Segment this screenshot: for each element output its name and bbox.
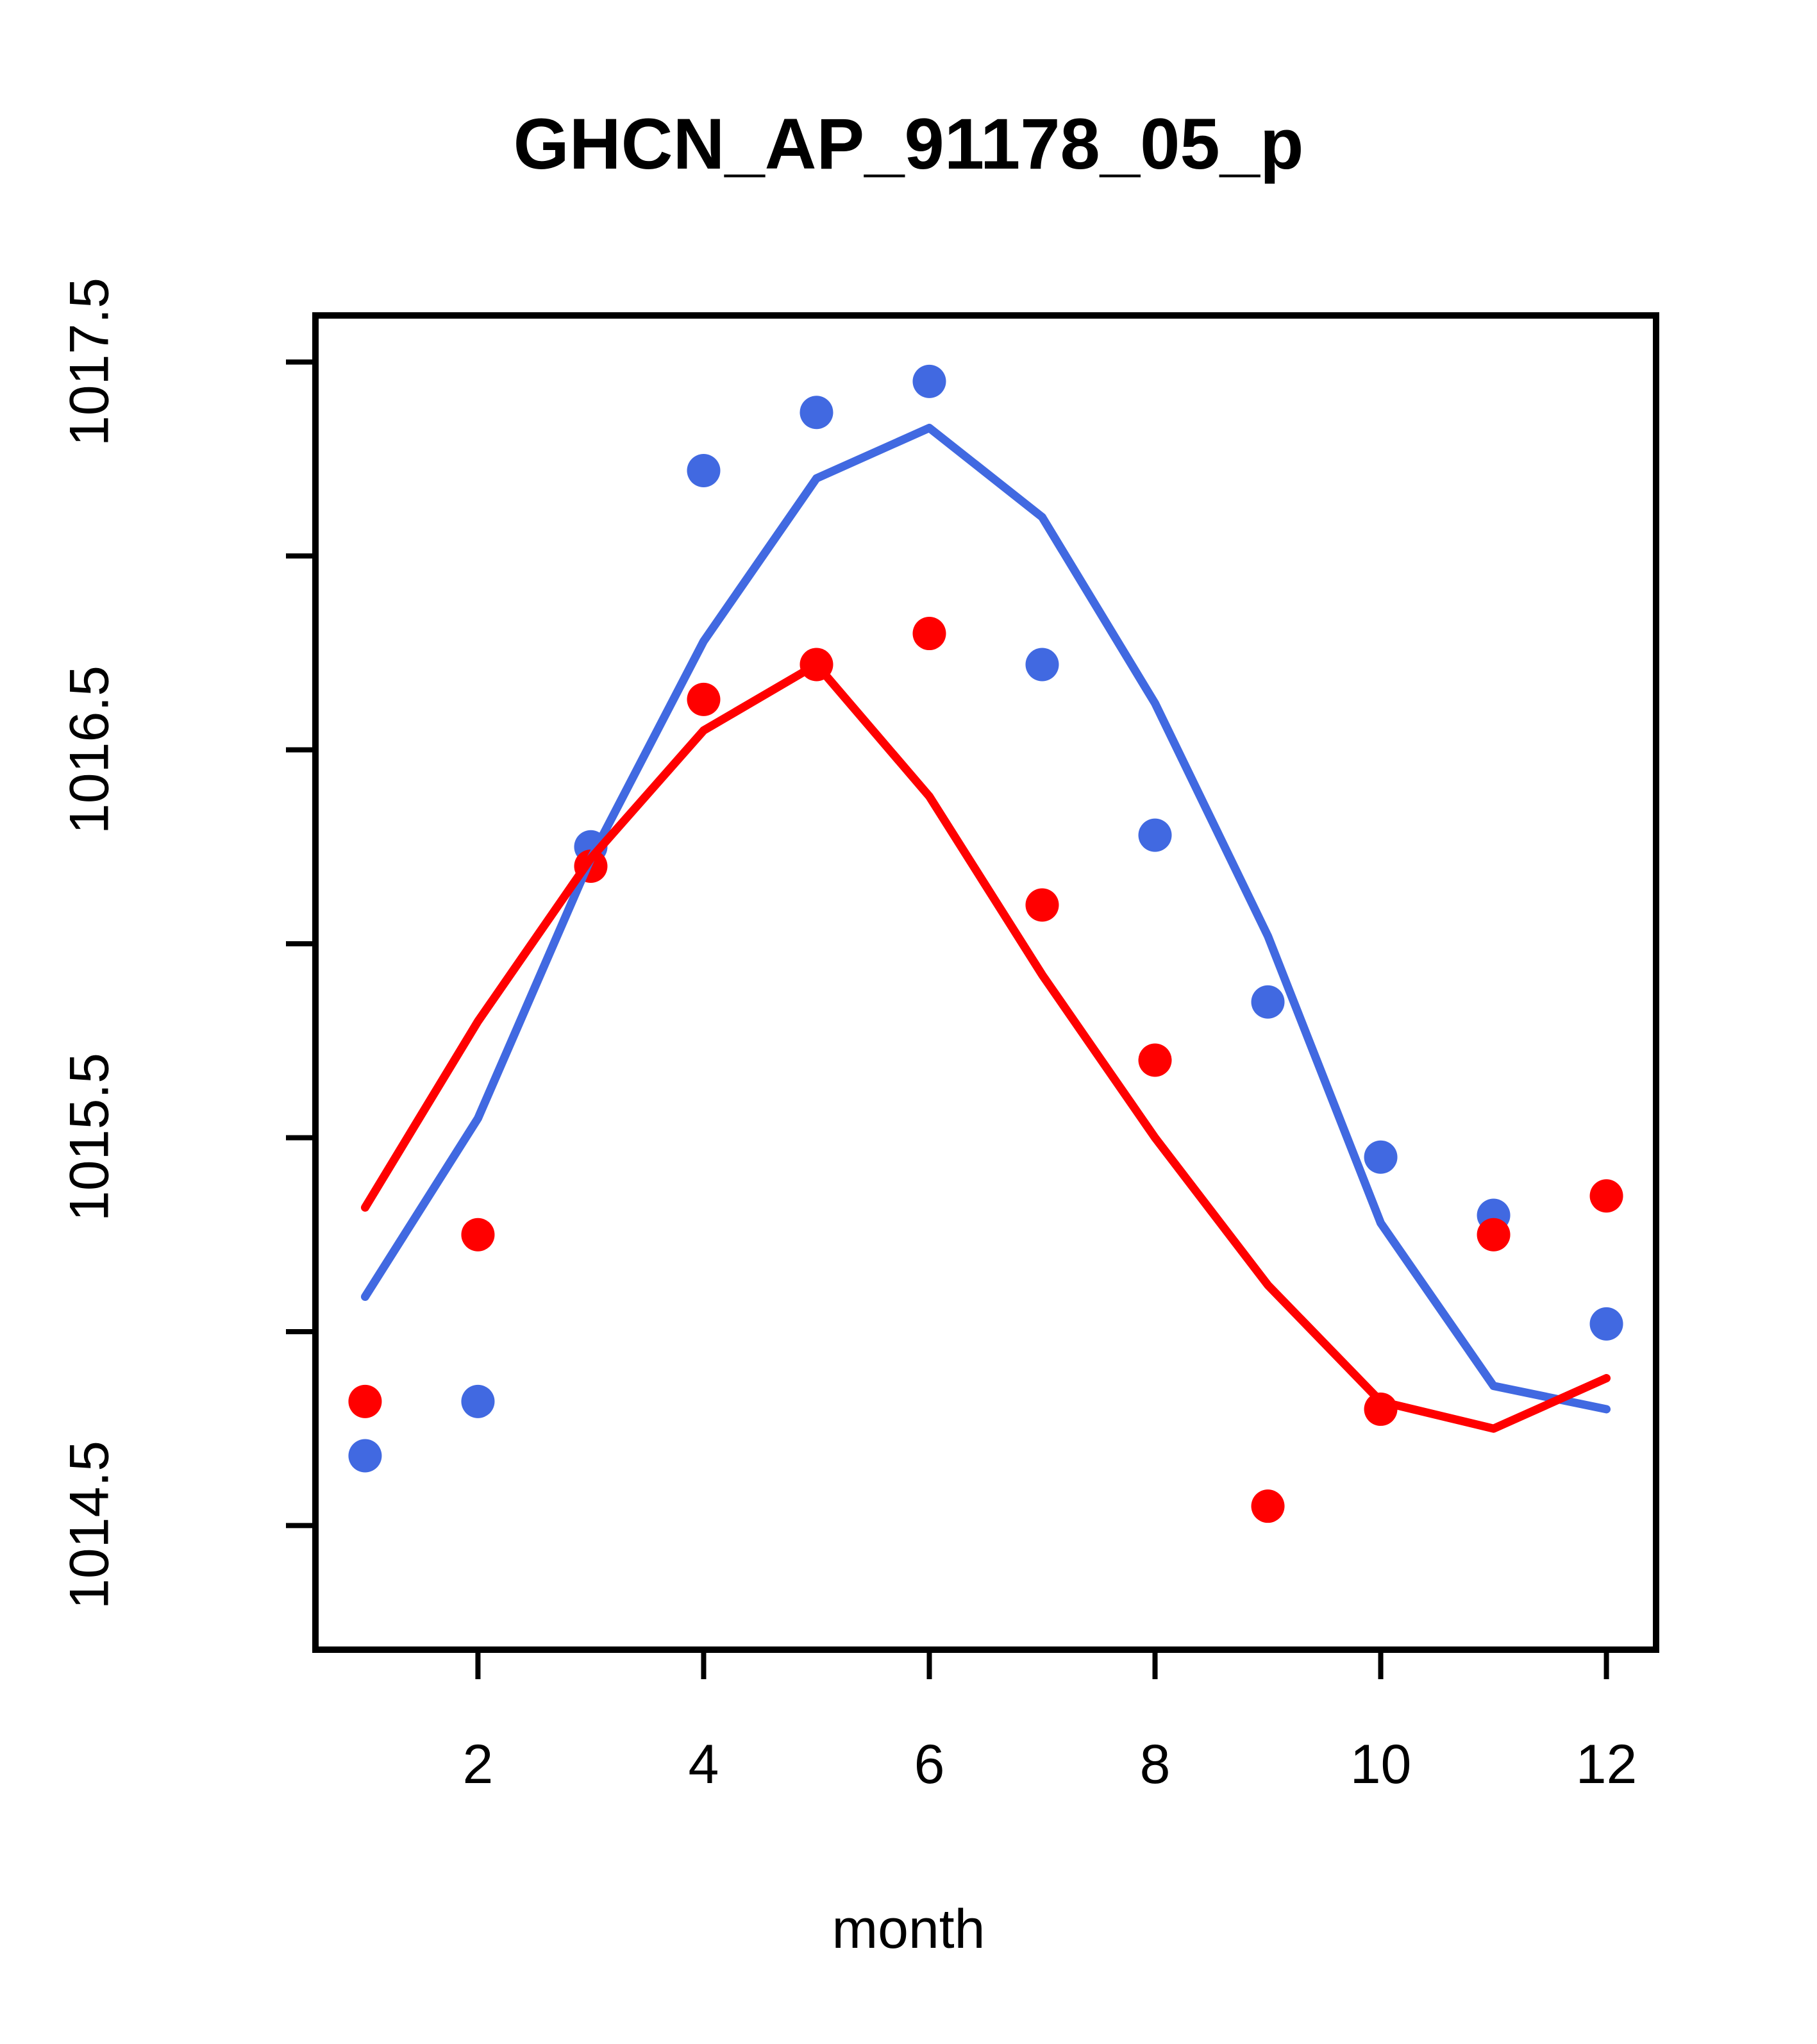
y-axis-tick-label: 1017.5 <box>58 227 122 496</box>
data-point <box>1026 889 1059 922</box>
data-point <box>1590 1307 1623 1341</box>
data-series-layer <box>348 365 1623 1523</box>
data-point <box>348 1385 381 1418</box>
data-point <box>348 1439 381 1473</box>
x-axis-tick-label: 4 <box>633 1733 774 1797</box>
data-point <box>1364 1141 1398 1174</box>
data-point <box>912 365 946 398</box>
x-axis-tick-label: 12 <box>1536 1733 1677 1797</box>
axis-ticks <box>286 362 1607 1679</box>
data-point <box>1590 1179 1623 1212</box>
data-point <box>1477 1218 1511 1252</box>
y-axis-tick-label: 1014.5 <box>58 1391 122 1660</box>
x-axis-tick-label: 2 <box>407 1733 548 1797</box>
data-point <box>1252 985 1285 1019</box>
x-axis-tick-label: 6 <box>858 1733 1000 1797</box>
x-axis-title: month <box>0 1898 1817 1961</box>
y-axis-tick-label: 1016.5 <box>58 615 122 884</box>
y-axis-tick-label: 1015.5 <box>58 1003 122 1272</box>
data-point <box>1026 648 1059 681</box>
data-point <box>1252 1489 1285 1523</box>
series-points-blue-points <box>348 365 1623 1473</box>
axis-frame <box>315 315 1656 1650</box>
x-axis-tick-label: 10 <box>1310 1733 1452 1797</box>
data-point <box>1139 819 1172 852</box>
chart-page: GHCN_AP_91178_05_p 1017.51016.51015.5101… <box>0 0 1817 2044</box>
data-point <box>687 454 720 487</box>
data-point <box>912 617 946 650</box>
series-line-red-line <box>365 664 1606 1428</box>
series-points-red-points <box>348 617 1623 1523</box>
data-point <box>1139 1043 1172 1076</box>
data-point <box>461 1385 494 1418</box>
x-axis-tick-label: 8 <box>1085 1733 1226 1797</box>
data-point <box>461 1218 494 1252</box>
plot-box-border <box>315 315 1656 1650</box>
data-point <box>687 683 720 716</box>
data-point <box>800 396 833 429</box>
